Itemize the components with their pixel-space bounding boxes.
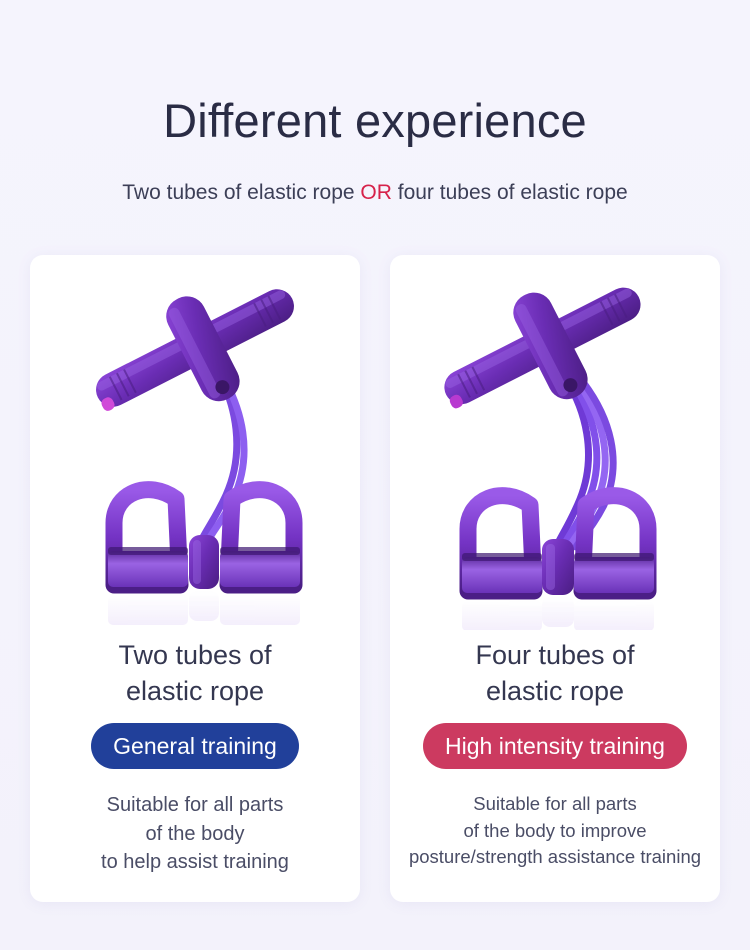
promo-page: Different experience Two tubes of elasti…	[0, 0, 750, 950]
card-description: Suitable for all parts of the body to im…	[399, 791, 711, 870]
two-tube-pedal-puller-icon	[30, 255, 360, 630]
subtitle-text-after: four tubes of elastic rope	[392, 181, 628, 204]
status-badge-high-intensity-training[interactable]: High intensity training	[423, 723, 687, 769]
card-heading: Four tubes of elastic rope	[475, 638, 634, 709]
product-card-two-tube[interactable]: Two tubes of elastic rope General traini…	[30, 255, 360, 902]
subtitle-or-accent: OR	[360, 181, 392, 204]
page-title: Different experience	[0, 96, 750, 145]
header: Different experience Two tubes of elasti…	[0, 0, 750, 206]
four-tube-pedal-puller-icon	[390, 255, 720, 630]
status-badge-general-training[interactable]: General training	[91, 723, 299, 769]
subtitle-text-before: Two tubes of elastic rope	[122, 181, 360, 204]
card-description: Suitable for all parts of the body to he…	[91, 791, 299, 876]
page-subtitle: Two tubes of elastic rope OR four tubes …	[0, 180, 750, 205]
card-heading: Two tubes of elastic rope	[118, 638, 271, 709]
product-card-four-tube[interactable]: Four tubes of elastic rope High intensit…	[390, 255, 720, 902]
comparison-cards: Two tubes of elastic rope General traini…	[30, 255, 720, 902]
